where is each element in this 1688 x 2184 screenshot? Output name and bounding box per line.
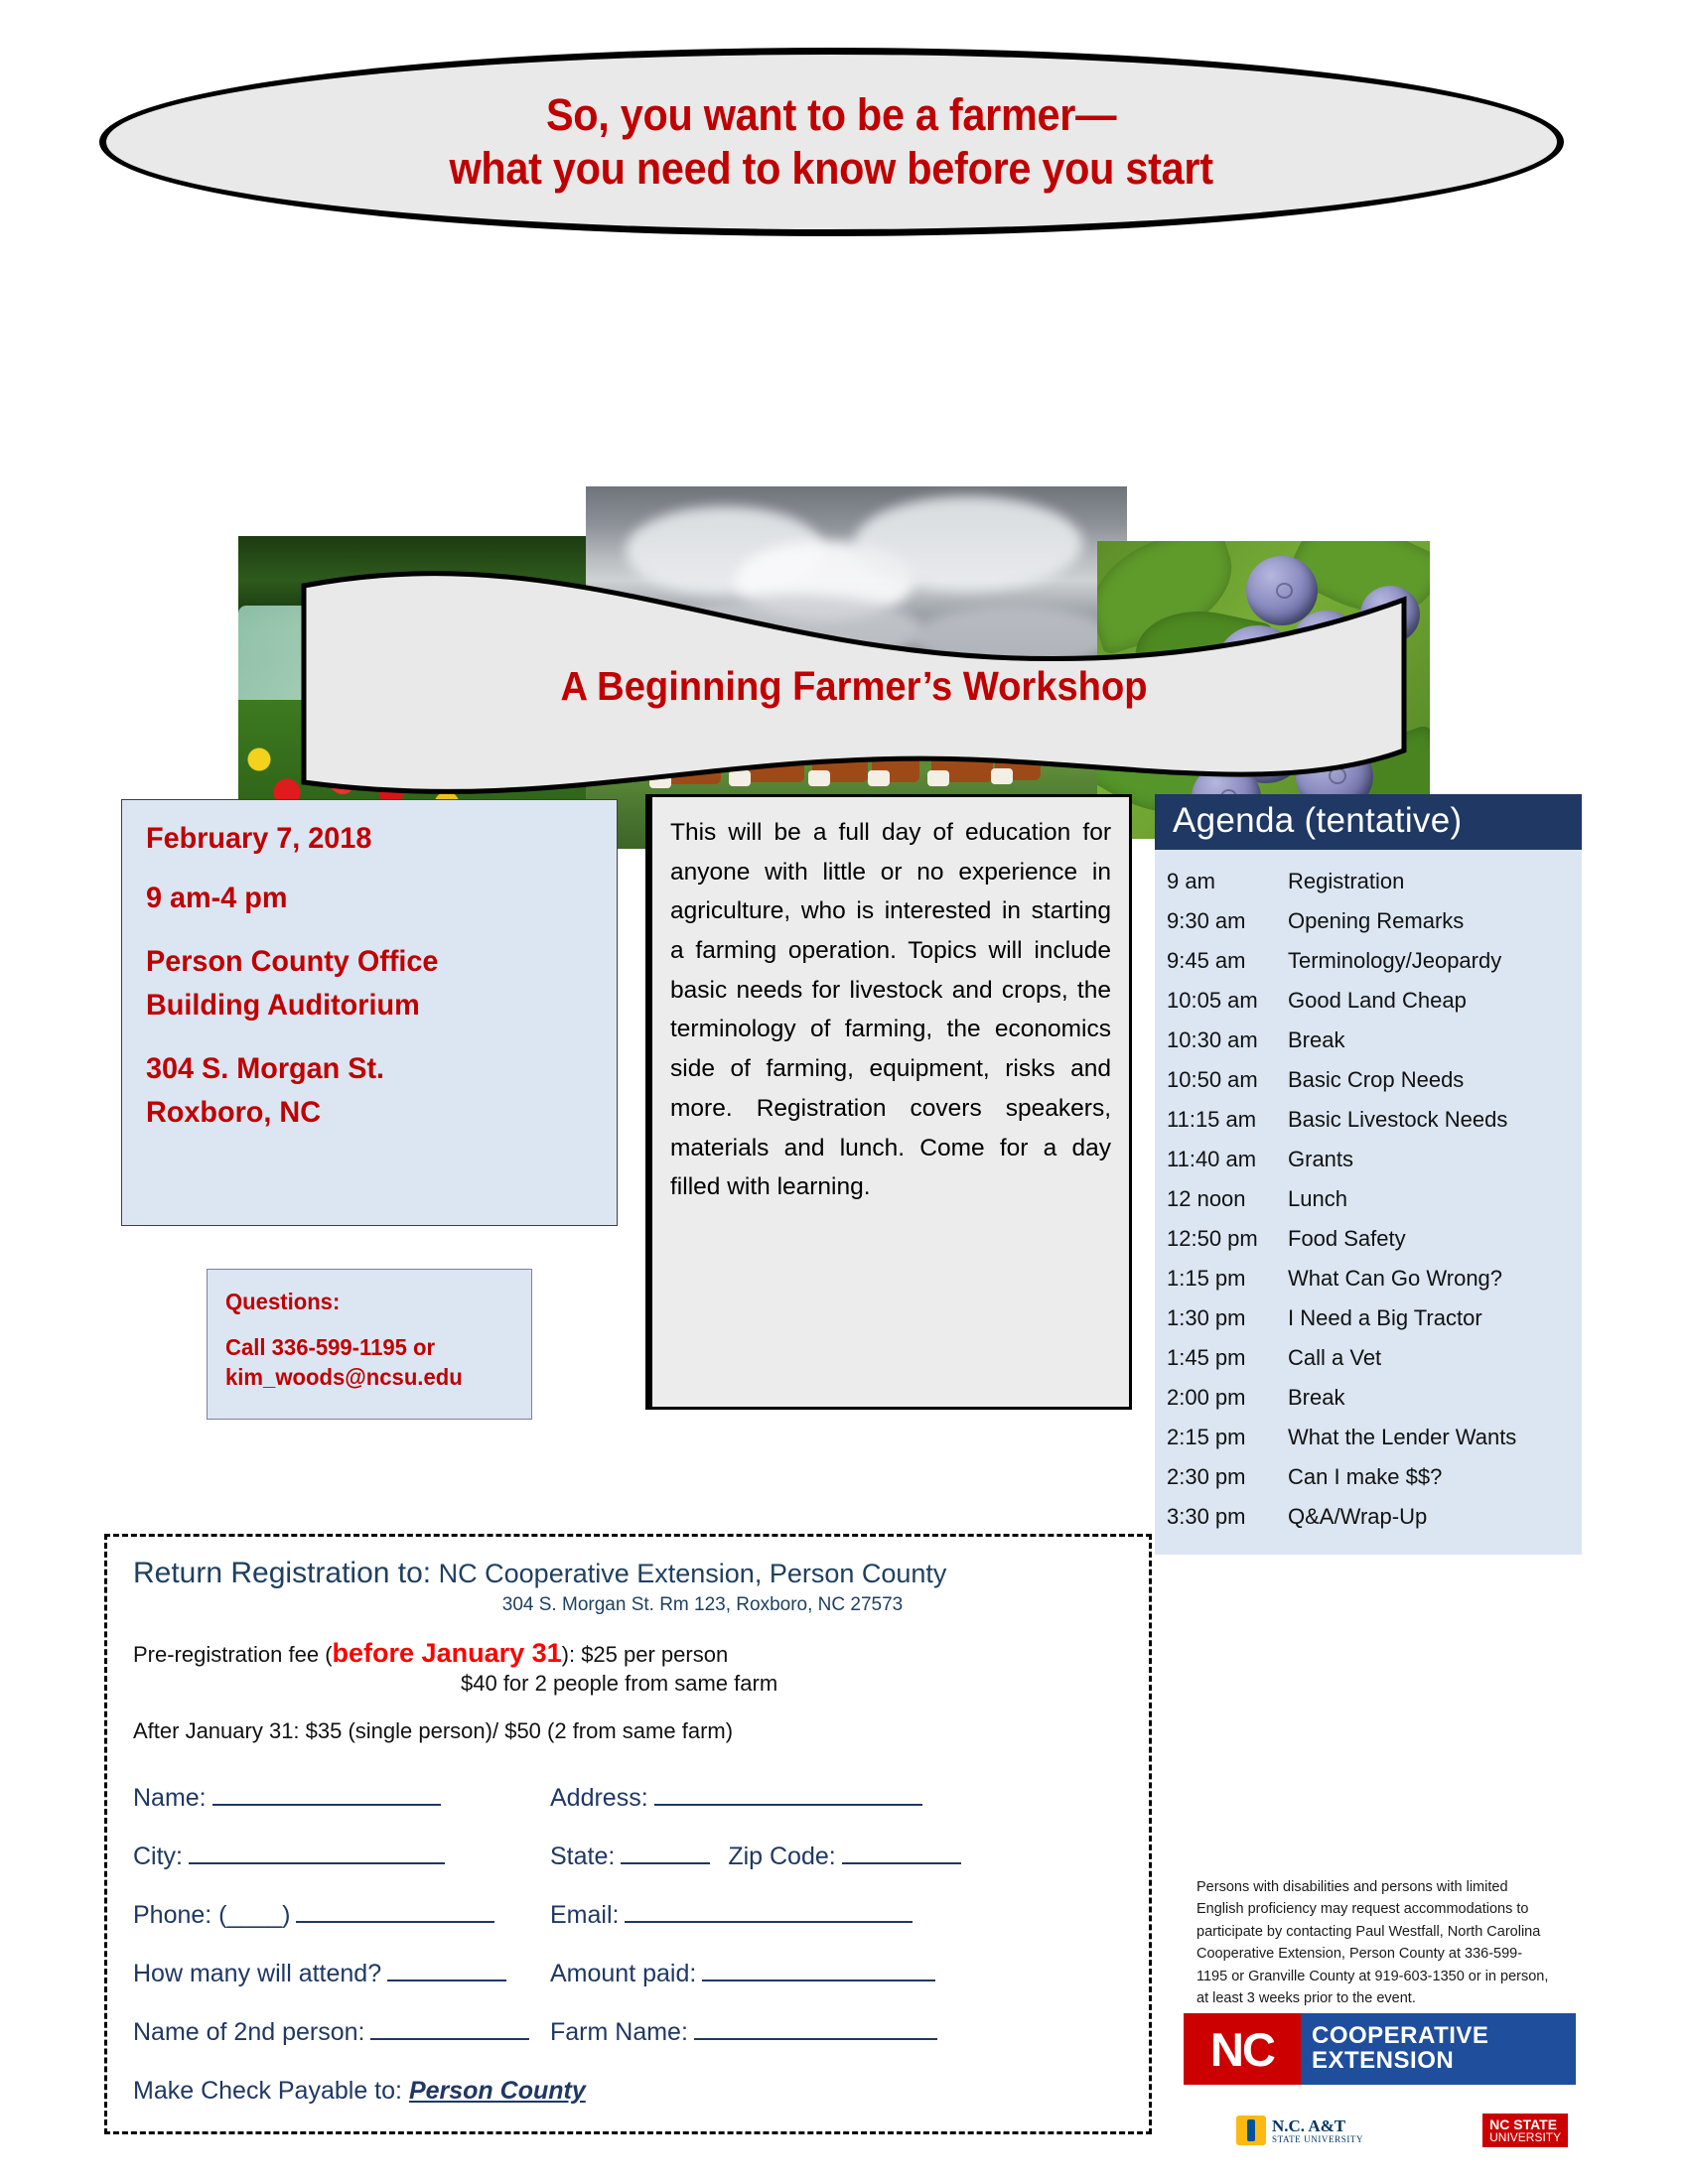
agenda-row-item: Terminology/Jeopardy — [1288, 948, 1582, 974]
agenda-row-item: I Need a Big Tractor — [1288, 1305, 1582, 1331]
field-phone[interactable]: Phone: (____) — [133, 1901, 550, 1930]
agenda-row-time: 12:50 pm — [1167, 1226, 1288, 1252]
nc-at-aggie-icon — [1236, 2116, 1266, 2145]
field-attendance-input[interactable] — [387, 1960, 506, 1981]
questions-phone: Call 336-599-1195 or — [225, 1333, 519, 1363]
return-address: 304 S. Morgan St. Rm 123, Roxboro, NC 27… — [282, 1594, 1123, 1616]
agenda-row: 12 noonLunch — [1155, 1179, 1582, 1219]
return-registration-org: NC Cooperative Extension, Person County — [431, 1559, 946, 1588]
after-deadline-fee: After January 31: $35 (single person)/ $… — [133, 1718, 1123, 1744]
agenda-row: 3:30 pmQ&A/Wrap-Up — [1155, 1497, 1582, 1537]
agenda-row-item: Registration — [1288, 869, 1582, 894]
flyer-page: So, you want to be a farmer— what you ne… — [0, 0, 1688, 2184]
field-address-input[interactable] — [654, 1784, 922, 1806]
title-oval-banner: So, you want to be a farmer— what you ne… — [99, 48, 1564, 236]
form-row-city-state-zip: City: State: Zip Code: — [133, 1843, 1123, 1871]
registration-form: Return Registration to: NC Cooperative E… — [104, 1534, 1152, 2134]
form-row-attendance-amount: How many will attend? Amount paid: — [133, 1960, 1123, 1988]
agenda-row-time: 10:50 am — [1167, 1067, 1288, 1093]
agenda-row-item: Basic Crop Needs — [1288, 1067, 1582, 1093]
field-name-label: Name: — [133, 1784, 207, 1813]
agenda-row-time: 1:30 pm — [1167, 1305, 1288, 1331]
agenda-row-time: 10:30 am — [1167, 1027, 1288, 1053]
agenda-row-item: Break — [1288, 1385, 1582, 1411]
form-row-phone-email: Phone: (____) Email: — [133, 1901, 1123, 1930]
agenda-row-time: 11:15 am — [1167, 1107, 1288, 1133]
field-email-label: Email: — [550, 1901, 619, 1930]
agenda-row-time: 12 noon — [1167, 1186, 1288, 1212]
workshop-ribbon-banner: A Beginning Farmer’s Workshop — [298, 556, 1410, 804]
agenda-row-item: Grants — [1288, 1147, 1582, 1172]
photo-collage — [0, 238, 1688, 606]
questions-box: Questions: Call 336-599-1195 or kim_wood… — [207, 1269, 532, 1420]
field-farm-name-input[interactable] — [694, 2018, 937, 2040]
field-address[interactable]: Address: — [550, 1784, 922, 1813]
field-name[interactable]: Name: — [133, 1784, 550, 1813]
agenda-row: 10:30 amBreak — [1155, 1021, 1582, 1060]
agenda-row-time: 9:30 am — [1167, 908, 1288, 934]
agenda-row-item: Can I make $$? — [1288, 1464, 1582, 1490]
accessibility-disclaimer: Persons with disabilities and persons wi… — [1196, 1876, 1549, 2010]
field-phone-label: Phone: (____) — [133, 1901, 290, 1930]
field-zip[interactable]: Zip Code: — [728, 1843, 960, 1871]
agenda-row-time: 9 am — [1167, 869, 1288, 894]
event-city-state: Roxboro, NC — [146, 1098, 598, 1128]
nc-at-logo: N.C. A&T STATE UNIVERSITY — [1236, 2116, 1363, 2145]
event-venue-line1: Person County Office — [146, 947, 598, 977]
fee-deadline: before January 31 — [333, 1638, 562, 1668]
agenda-row: 11:15 amBasic Livestock Needs — [1155, 1100, 1582, 1140]
field-amount-paid[interactable]: Amount paid: — [550, 1960, 935, 1988]
field-address-label: Address: — [550, 1784, 648, 1813]
questions-email[interactable]: kim_woods@ncsu.edu — [225, 1363, 519, 1393]
agenda-row-time: 9:45 am — [1167, 948, 1288, 974]
field-second-person-input[interactable] — [370, 2018, 529, 2040]
description-paragraph: This will be a full day of education for… — [670, 813, 1111, 1207]
agenda-row-item: Lunch — [1288, 1186, 1582, 1212]
agenda-row-item: What Can Go Wrong? — [1288, 1266, 1582, 1292]
event-time: 9 am-4 pm — [146, 884, 598, 913]
field-email[interactable]: Email: — [550, 1901, 913, 1930]
agenda-row-item: Break — [1288, 1027, 1582, 1053]
agenda-row-item: Call a Vet — [1288, 1345, 1582, 1371]
field-amount-paid-input[interactable] — [702, 1960, 935, 1981]
field-city-label: City: — [133, 1843, 183, 1871]
event-venue-line2: Building Auditorium — [146, 991, 598, 1021]
fee-two-person: $40 for 2 people from same farm — [461, 1671, 1123, 1697]
field-city[interactable]: City: — [133, 1843, 550, 1871]
field-zip-input[interactable] — [842, 1843, 961, 1864]
form-row-second-person-farm: Name of 2nd person: Farm Name: — [133, 2018, 1123, 2047]
fee-prefix: Pre-registration fee ( — [133, 1642, 333, 1667]
agenda-row-item: Opening Remarks — [1288, 908, 1582, 934]
pre-registration-fee-line: Pre-registration fee (before January 31)… — [133, 1638, 1123, 1669]
agenda-row: 9 amRegistration — [1155, 862, 1582, 901]
return-registration-line: Return Registration to: NC Cooperative E… — [133, 1557, 1123, 1590]
agenda-row-item: What the Lender Wants — [1288, 1425, 1582, 1450]
nc-state-sub: UNIVERSITY — [1489, 2131, 1561, 2143]
description-box: This will be a full day of education for… — [645, 794, 1132, 1410]
nc-cooperative-extension-logo: NC COOPERATIVE EXTENSION — [1184, 2013, 1576, 2085]
field-state-label: State: — [550, 1843, 615, 1871]
cooperative-extension-wordmark: COOPERATIVE EXTENSION — [1301, 2013, 1576, 2085]
field-city-input[interactable] — [189, 1843, 445, 1864]
agenda-row: 1:45 pmCall a Vet — [1155, 1338, 1582, 1378]
check-payee: Person County — [409, 2077, 586, 2105]
agenda-row-time: 2:15 pm — [1167, 1425, 1288, 1450]
nc-at-sub: STATE UNIVERSITY — [1272, 2134, 1363, 2144]
ribbon-title: A Beginning Farmer’s Workshop — [337, 663, 1371, 710]
agenda-row-time: 2:00 pm — [1167, 1385, 1288, 1411]
return-registration-label: Return Registration to: — [133, 1557, 431, 1589]
event-details-box: February 7, 2018 9 am-4 pm Person County… — [121, 799, 618, 1226]
nc-logo-mark: NC — [1184, 2013, 1301, 2085]
agenda-row: 12:50 pmFood Safety — [1155, 1219, 1582, 1259]
field-state[interactable]: State: — [550, 1843, 710, 1871]
agenda-row: 11:40 amGrants — [1155, 1140, 1582, 1179]
field-name-input[interactable] — [212, 1784, 441, 1806]
agenda-row: 2:00 pmBreak — [1155, 1378, 1582, 1418]
logo-extension-text: EXTENSION — [1312, 2049, 1576, 2074]
title-line-1: So, you want to be a farmer— — [450, 88, 1213, 142]
agenda-row: 10:05 amGood Land Cheap — [1155, 981, 1582, 1021]
agenda-row: 1:15 pmWhat Can Go Wrong? — [1155, 1259, 1582, 1298]
form-row-name-address: Name: Address: — [133, 1784, 1123, 1813]
check-payable-label: Make Check Payable to: — [133, 2077, 402, 2105]
agenda-row-item: Q&A/Wrap-Up — [1288, 1504, 1582, 1530]
title-line-2: what you need to know before you start — [450, 142, 1213, 196]
field-farm-name-label: Farm Name: — [550, 2018, 688, 2047]
check-payable-line: Make Check Payable to: Person County — [133, 2077, 1123, 2106]
partner-logos-row: N.C. A&T STATE UNIVERSITY NC STATE UNIVE… — [1196, 2103, 1584, 2158]
agenda-row-time: 1:15 pm — [1167, 1266, 1288, 1292]
field-email-input[interactable] — [625, 1901, 913, 1923]
nc-state-logo: NC STATE UNIVERSITY — [1482, 2114, 1568, 2147]
agenda-row-item: Basic Livestock Needs — [1288, 1107, 1582, 1133]
agenda-row-time: 11:40 am — [1167, 1147, 1288, 1172]
agenda-row: 9:30 amOpening Remarks — [1155, 901, 1582, 941]
agenda-row: 2:30 pmCan I make $$? — [1155, 1457, 1582, 1497]
title-text-group: So, you want to be a farmer— what you ne… — [450, 88, 1213, 196]
nc-at-name: N.C. A&T — [1272, 2117, 1363, 2134]
field-second-person-label: Name of 2nd person: — [133, 2018, 364, 2047]
field-attendance[interactable]: How many will attend? — [133, 1960, 550, 1988]
agenda-panel: Agenda (tentative) 9 amRegistration9:30 … — [1155, 794, 1582, 1555]
field-state-input[interactable] — [621, 1843, 710, 1864]
agenda-row: 10:50 amBasic Crop Needs — [1155, 1060, 1582, 1100]
agenda-row-item: Good Land Cheap — [1288, 988, 1582, 1014]
nc-state-name: NC STATE — [1489, 2117, 1561, 2131]
field-zip-label: Zip Code: — [728, 1843, 835, 1871]
agenda-row: 1:30 pmI Need a Big Tractor — [1155, 1298, 1582, 1338]
field-phone-input[interactable] — [296, 1901, 494, 1923]
event-street: 304 S. Morgan St. — [146, 1054, 598, 1084]
event-date: February 7, 2018 — [146, 824, 598, 854]
fee-suffix: ): $25 per person — [562, 1642, 729, 1667]
agenda-list: 9 amRegistration9:30 amOpening Remarks9:… — [1155, 850, 1582, 1555]
field-second-person[interactable]: Name of 2nd person: — [133, 2018, 550, 2047]
agenda-row: 9:45 amTerminology/Jeopardy — [1155, 941, 1582, 981]
agenda-row-item: Food Safety — [1288, 1226, 1582, 1252]
field-attendance-label: How many will attend? — [133, 1960, 381, 1988]
agenda-row: 2:15 pmWhat the Lender Wants — [1155, 1418, 1582, 1457]
agenda-row-time: 3:30 pm — [1167, 1504, 1288, 1530]
nc-at-wordmark: N.C. A&T STATE UNIVERSITY — [1272, 2117, 1363, 2144]
agenda-row-time: 10:05 am — [1167, 988, 1288, 1014]
agenda-row-time: 1:45 pm — [1167, 1345, 1288, 1371]
questions-heading: Questions: — [225, 1288, 519, 1317]
field-farm-name[interactable]: Farm Name: — [550, 2018, 937, 2047]
field-amount-paid-label: Amount paid: — [550, 1960, 696, 1988]
logo-cooperative-text: COOPERATIVE — [1312, 2024, 1576, 2049]
agenda-row-time: 2:30 pm — [1167, 1464, 1288, 1490]
